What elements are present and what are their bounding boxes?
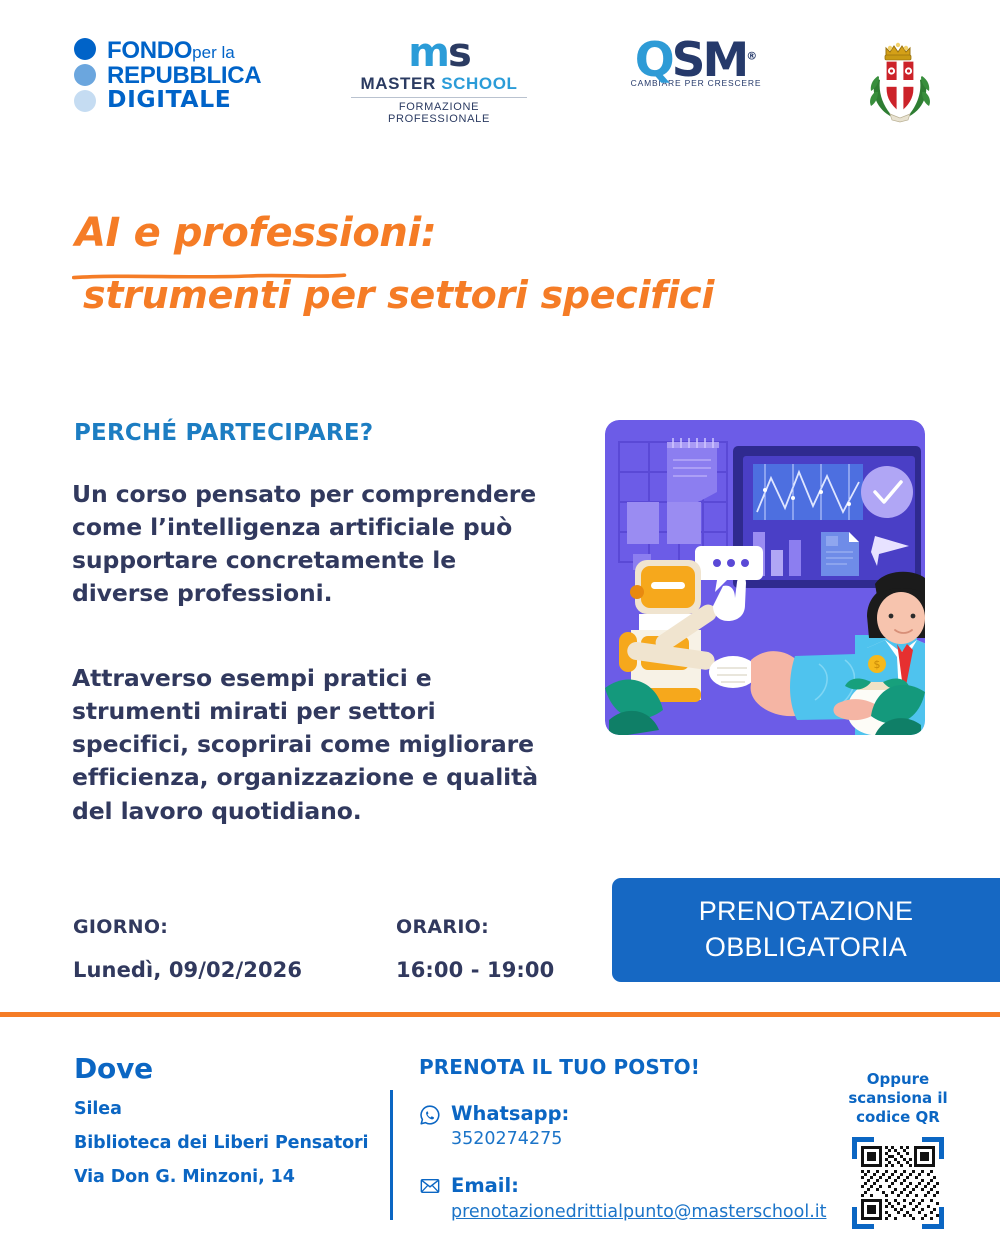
- ms-mark-s: s: [448, 30, 470, 76]
- logo-fondo-repubblica-digitale: FONDOper la REPUBBLICA DIGITALE: [74, 38, 261, 112]
- schedule-time-value: 16:00 - 19:00: [396, 958, 554, 982]
- schedule-day-label: GIORNO:: [73, 916, 302, 938]
- logo-master-school: ms MASTER SCHOOL FORMAZIONE PROFESSIONAL…: [349, 34, 529, 125]
- svg-text:$: $: [874, 658, 881, 671]
- banner-line-2: OBBLIGATORIA: [612, 930, 1000, 966]
- fondo-line1: FONDO: [107, 37, 192, 64]
- fondo-line3: DIGITALE: [107, 89, 264, 112]
- qsm-registered-icon: ®: [746, 49, 757, 62]
- location-heading: Dove: [74, 1052, 368, 1085]
- qr-caption-line-3: codice QR: [843, 1108, 953, 1127]
- robot-handshake-illustration: $: [605, 420, 925, 735]
- qsm-wordmark-icon: QSM®: [635, 40, 758, 82]
- schedule-day: GIORNO: Lunedì, 09/02/2026: [73, 916, 302, 982]
- logo-bar: FONDOper la REPUBBLICA DIGITALE ms MASTE…: [0, 0, 1000, 150]
- qr-code-icon[interactable]: [850, 1135, 946, 1231]
- why-paragraph-2: Attraverso esempi pratici e strumenti mi…: [72, 662, 542, 828]
- master-school-rule: [351, 97, 527, 98]
- whatsapp-icon: [419, 1104, 441, 1126]
- envelope-icon: [419, 1176, 441, 1198]
- master-school-name-b: SCHOOL: [441, 74, 517, 93]
- qr-caption-line-2: scansiona il: [843, 1089, 953, 1108]
- master-school-subtitle: FORMAZIONE PROFESSIONALE: [349, 101, 529, 125]
- qr-caption-line-1: Oppure: [843, 1070, 953, 1089]
- why-participate-heading: PERCHÉ PARTECIPARE?: [74, 420, 373, 446]
- logo-qsm: QSM® CAMBIARE PER CRESCERE: [611, 40, 781, 88]
- email-contact[interactable]: Email: prenotazionedrittialpunto@masters…: [419, 1174, 826, 1223]
- why-paragraph-1: Un corso pensato per comprendere come l’…: [72, 478, 542, 611]
- booking-heading: PRENOTA IL TUO POSTO!: [419, 1055, 826, 1079]
- master-school-monogram-icon: ms: [349, 34, 529, 72]
- fondo-line2: REPUBBLICA: [107, 64, 261, 88]
- whatsapp-number[interactable]: 3520274275: [451, 1128, 569, 1151]
- qr-block: Oppure scansiona il codice QR: [843, 1070, 953, 1231]
- comune-crest-icon: [862, 34, 938, 126]
- reservation-required-banner[interactable]: PRENOTAZIONE OBBLIGATORIA: [612, 878, 1000, 982]
- poster-root: FONDOper la REPUBBLICA DIGITALE ms MASTE…: [0, 0, 1000, 1249]
- qsm-m: M: [703, 33, 747, 88]
- location-address: Via Don G. Minzoni, 14: [74, 1167, 368, 1187]
- ms-mark-m: m: [408, 30, 448, 76]
- title-line-1-text: AI e professioni:: [75, 210, 436, 256]
- location-block: Dove Silea Biblioteca dei Liberi Pensato…: [74, 1052, 368, 1187]
- orange-divider: [0, 1012, 1000, 1017]
- banner-line-1: PRENOTAZIONE: [612, 894, 1000, 930]
- whatsapp-label: Whatsapp:: [451, 1102, 569, 1125]
- schedule-day-value: Lunedì, 09/02/2026: [73, 958, 302, 982]
- location-venue: Biblioteca dei Liberi Pensatori: [74, 1133, 368, 1153]
- title-underline-stroke: [72, 272, 347, 280]
- email-label: Email:: [451, 1174, 519, 1197]
- master-school-name-a: MASTER: [360, 74, 441, 93]
- page-title: AI e professioni: strumenti per settori …: [75, 212, 714, 316]
- qsm-s: S: [672, 33, 703, 88]
- title-line-1: AI e professioni:: [75, 212, 436, 254]
- booking-block: PRENOTA IL TUO POSTO! Whatsapp: 35202742…: [419, 1055, 826, 1223]
- fondo-dots-icon: [74, 38, 96, 112]
- schedule-time: ORARIO: 16:00 - 19:00: [396, 916, 554, 982]
- location-city: Silea: [74, 1099, 368, 1119]
- title-line-2: strumenti per settori specifici: [83, 276, 714, 316]
- footer-vertical-divider: [390, 1090, 393, 1220]
- schedule-time-label: ORARIO:: [396, 916, 554, 938]
- email-address[interactable]: prenotazionedrittialpunto@masterschool.i…: [451, 1201, 826, 1224]
- fondo-line1-small: per la: [192, 43, 235, 62]
- qsm-q: Q: [635, 33, 672, 88]
- whatsapp-contact[interactable]: Whatsapp: 3520274275: [419, 1102, 826, 1151]
